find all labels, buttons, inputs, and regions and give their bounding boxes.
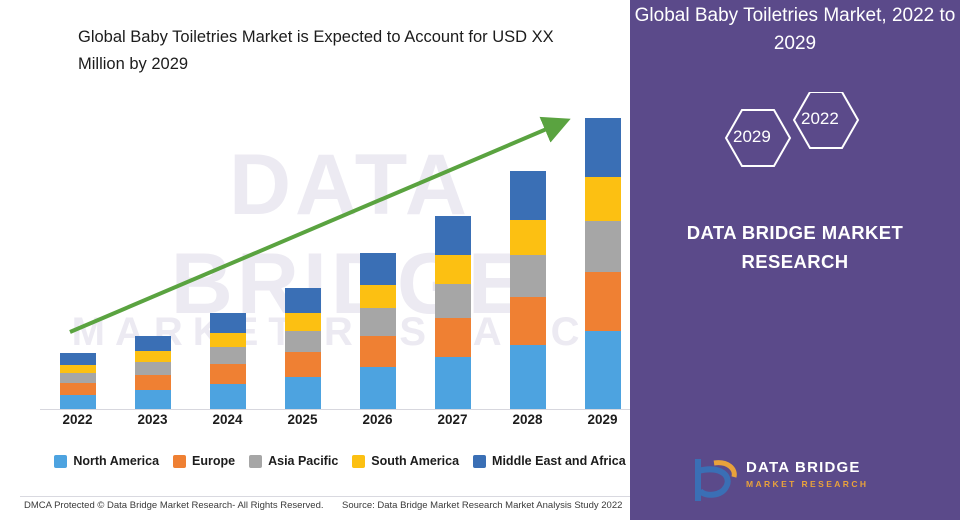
- bar-segment: [60, 395, 96, 410]
- hexagon-label-1: 2022: [801, 109, 839, 129]
- legend-label: North America: [73, 454, 159, 468]
- bar-segment: [585, 177, 621, 221]
- bar-segment: [435, 255, 471, 283]
- bar-segment: [585, 331, 621, 410]
- x-axis-tick-label: 2023: [118, 412, 188, 427]
- x-axis-tick-label: 2028: [493, 412, 563, 427]
- x-axis-tick-label: 2026: [343, 412, 413, 427]
- legend-swatch: [173, 455, 186, 468]
- legend-item[interactable]: South America: [352, 454, 459, 468]
- x-axis-tick-label: 2029: [568, 412, 638, 427]
- footer-copyright: DMCA Protected © Data Bridge Market Rese…: [24, 500, 324, 511]
- bar-column: [60, 353, 96, 410]
- bar-segment: [210, 347, 246, 364]
- bar-segment: [210, 333, 246, 347]
- bar-segment: [285, 377, 321, 410]
- hexagon-label-0: 2029: [733, 127, 771, 147]
- bar-segment: [435, 318, 471, 357]
- legend-label: Europe: [192, 454, 235, 468]
- dbmr-logo: DATA BRIDGE MARKET RESEARCH: [688, 455, 938, 507]
- legend-swatch: [352, 455, 365, 468]
- dbmr-logo-subtitle: MARKET RESEARCH: [746, 479, 868, 489]
- legend-label: South America: [371, 454, 459, 468]
- bar-segment: [360, 285, 396, 309]
- bar-segment: [585, 118, 621, 177]
- legend-item[interactable]: Middle East and Africa: [473, 454, 626, 468]
- bar-segment: [60, 365, 96, 373]
- hexagon-shapes: [702, 92, 892, 202]
- footer: DMCA Protected © Data Bridge Market Rese…: [0, 496, 660, 520]
- panel-brand-line-2: RESEARCH: [741, 251, 848, 272]
- bar-segment: [360, 308, 396, 335]
- bar-segment: [585, 221, 621, 272]
- dbmr-logo-icon: [688, 455, 740, 505]
- bar-segment: [435, 284, 471, 318]
- bar-column: [210, 313, 246, 410]
- x-axis-labels: 20222023202420252026202720282029: [40, 412, 640, 438]
- x-axis-tick-label: 2024: [193, 412, 263, 427]
- chart-area: Global Baby Toiletries Market is Expecte…: [0, 0, 660, 520]
- bar-segment: [285, 313, 321, 331]
- bar-segment: [135, 375, 171, 390]
- panel-brand-line-1: DATA BRIDGE MARKET: [687, 222, 904, 243]
- legend: North AmericaEuropeAsia PacificSouth Ame…: [30, 450, 650, 472]
- bar-segment: [510, 171, 546, 219]
- panel-title: Global Baby Toiletries Market, 2022 to 2…: [630, 0, 960, 58]
- right-panel: Global Baby Toiletries Market, 2022 to 2…: [630, 0, 960, 520]
- legend-swatch: [473, 455, 486, 468]
- bar-segment: [585, 272, 621, 331]
- bar-segment: [60, 373, 96, 382]
- panel-brand: DATA BRIDGE MARKET RESEARCH: [630, 218, 960, 276]
- bar-segment: [135, 336, 171, 351]
- bar-segment: [510, 255, 546, 296]
- x-axis-tick-label: 2022: [43, 412, 113, 427]
- plot-region: [40, 100, 640, 410]
- bar-segment: [435, 216, 471, 255]
- bar-segment: [135, 390, 171, 410]
- bar-segment: [360, 367, 396, 410]
- bar-segment: [60, 353, 96, 365]
- bar-segment: [210, 384, 246, 410]
- legend-swatch: [54, 455, 67, 468]
- bar-column: [360, 253, 396, 410]
- bar-segment: [285, 288, 321, 313]
- legend-label: Asia Pacific: [268, 454, 338, 468]
- legend-item[interactable]: Europe: [173, 454, 235, 468]
- footer-source: Source: Data Bridge Market Research Mark…: [342, 500, 622, 511]
- hexagon-group: 2029 2022: [702, 92, 892, 202]
- x-axis-tick-label: 2025: [268, 412, 338, 427]
- bar-segment: [210, 364, 246, 384]
- bar-segment: [360, 336, 396, 368]
- bar-column: [435, 216, 471, 410]
- bar-segment: [360, 253, 396, 285]
- bar-column: [135, 336, 171, 410]
- x-axis-line: [40, 409, 640, 410]
- bar-column: [285, 288, 321, 410]
- bar-segment: [285, 352, 321, 377]
- bar-segment: [510, 345, 546, 410]
- legend-item[interactable]: North America: [54, 454, 159, 468]
- bar-segment: [285, 331, 321, 352]
- legend-swatch: [249, 455, 262, 468]
- footer-divider: [20, 496, 634, 497]
- bar-segment: [210, 313, 246, 333]
- bar-column: [510, 171, 546, 410]
- bar-segment: [135, 362, 171, 375]
- legend-item[interactable]: Asia Pacific: [249, 454, 338, 468]
- bar-segment: [60, 383, 96, 395]
- bar-column: [585, 118, 621, 410]
- bar-segment: [135, 351, 171, 362]
- bar-group: [40, 100, 640, 410]
- legend-label: Middle East and Africa: [492, 454, 626, 468]
- chart-title: Global Baby Toiletries Market is Expecte…: [78, 24, 598, 78]
- bar-segment: [510, 297, 546, 345]
- dbmr-logo-title: DATA BRIDGE: [746, 459, 861, 476]
- x-axis-tick-label: 2027: [418, 412, 488, 427]
- bar-segment: [435, 357, 471, 410]
- bar-segment: [510, 220, 546, 255]
- infographic-root: Global Baby Toiletries Market is Expecte…: [0, 0, 960, 520]
